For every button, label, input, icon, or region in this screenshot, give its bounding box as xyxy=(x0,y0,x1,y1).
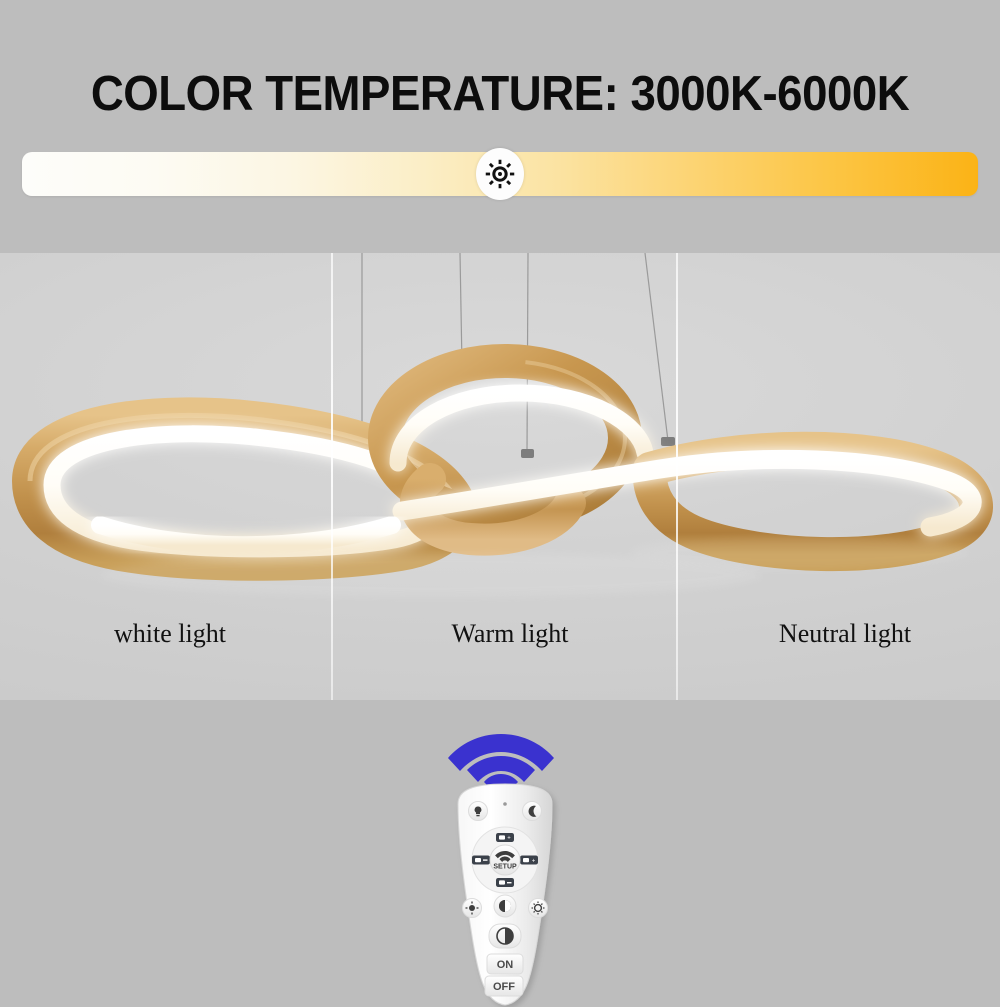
remote-night-button[interactable] xyxy=(523,802,542,821)
remote-setup-label: SETUP xyxy=(493,864,517,871)
remote-setup-button[interactable]: SETUP xyxy=(490,845,520,875)
svg-text:+: + xyxy=(532,858,536,864)
page-title: COLOR TEMPERATURE: 3000K-6000K xyxy=(35,66,965,122)
remote-on-button[interactable]: ON xyxy=(487,954,523,974)
remote-dpad-left[interactable] xyxy=(472,856,490,865)
color-temperature-slider[interactable] xyxy=(22,152,978,196)
remote-dpad-right[interactable]: + xyxy=(520,856,538,865)
sun-brightness-icon xyxy=(485,159,515,189)
product-info-graphic: COLOR TEMPERATURE: 3000K-6000K xyxy=(0,0,1000,1000)
caption-row: white light Warm light Neutral light xyxy=(0,619,1000,679)
remote-dpad-down[interactable] xyxy=(496,878,514,887)
led-remote-control[interactable]: + + SETUP xyxy=(425,782,585,1007)
lamp-led-strip-left-lower xyxy=(100,525,392,545)
product-photo-band: white light Warm light Neutral light xyxy=(0,253,1000,700)
remote-bulb-button[interactable] xyxy=(469,802,488,821)
remote-scene-button[interactable] xyxy=(463,899,482,918)
remote-bright-button[interactable] xyxy=(529,899,548,918)
remote-dim-button[interactable] xyxy=(494,895,516,917)
remote-contrast-button[interactable] xyxy=(489,924,521,948)
slider-knob[interactable] xyxy=(476,148,524,200)
svg-text:+: + xyxy=(507,836,511,842)
remote-off-label: OFF xyxy=(493,981,515,993)
remote-off-button[interactable]: OFF xyxy=(485,976,523,996)
caption-neutral-light: Neutral light xyxy=(700,619,990,649)
header-band: COLOR TEMPERATURE: 3000K-6000K xyxy=(0,0,1000,253)
remote-dpad-up[interactable]: + xyxy=(496,833,514,842)
wifi-signal-icon xyxy=(446,708,556,788)
ir-led-indicator xyxy=(503,802,507,806)
caption-warm-light: Warm light xyxy=(350,619,670,649)
remote-on-label: ON xyxy=(497,959,514,971)
caption-white-light: white light xyxy=(20,619,320,649)
